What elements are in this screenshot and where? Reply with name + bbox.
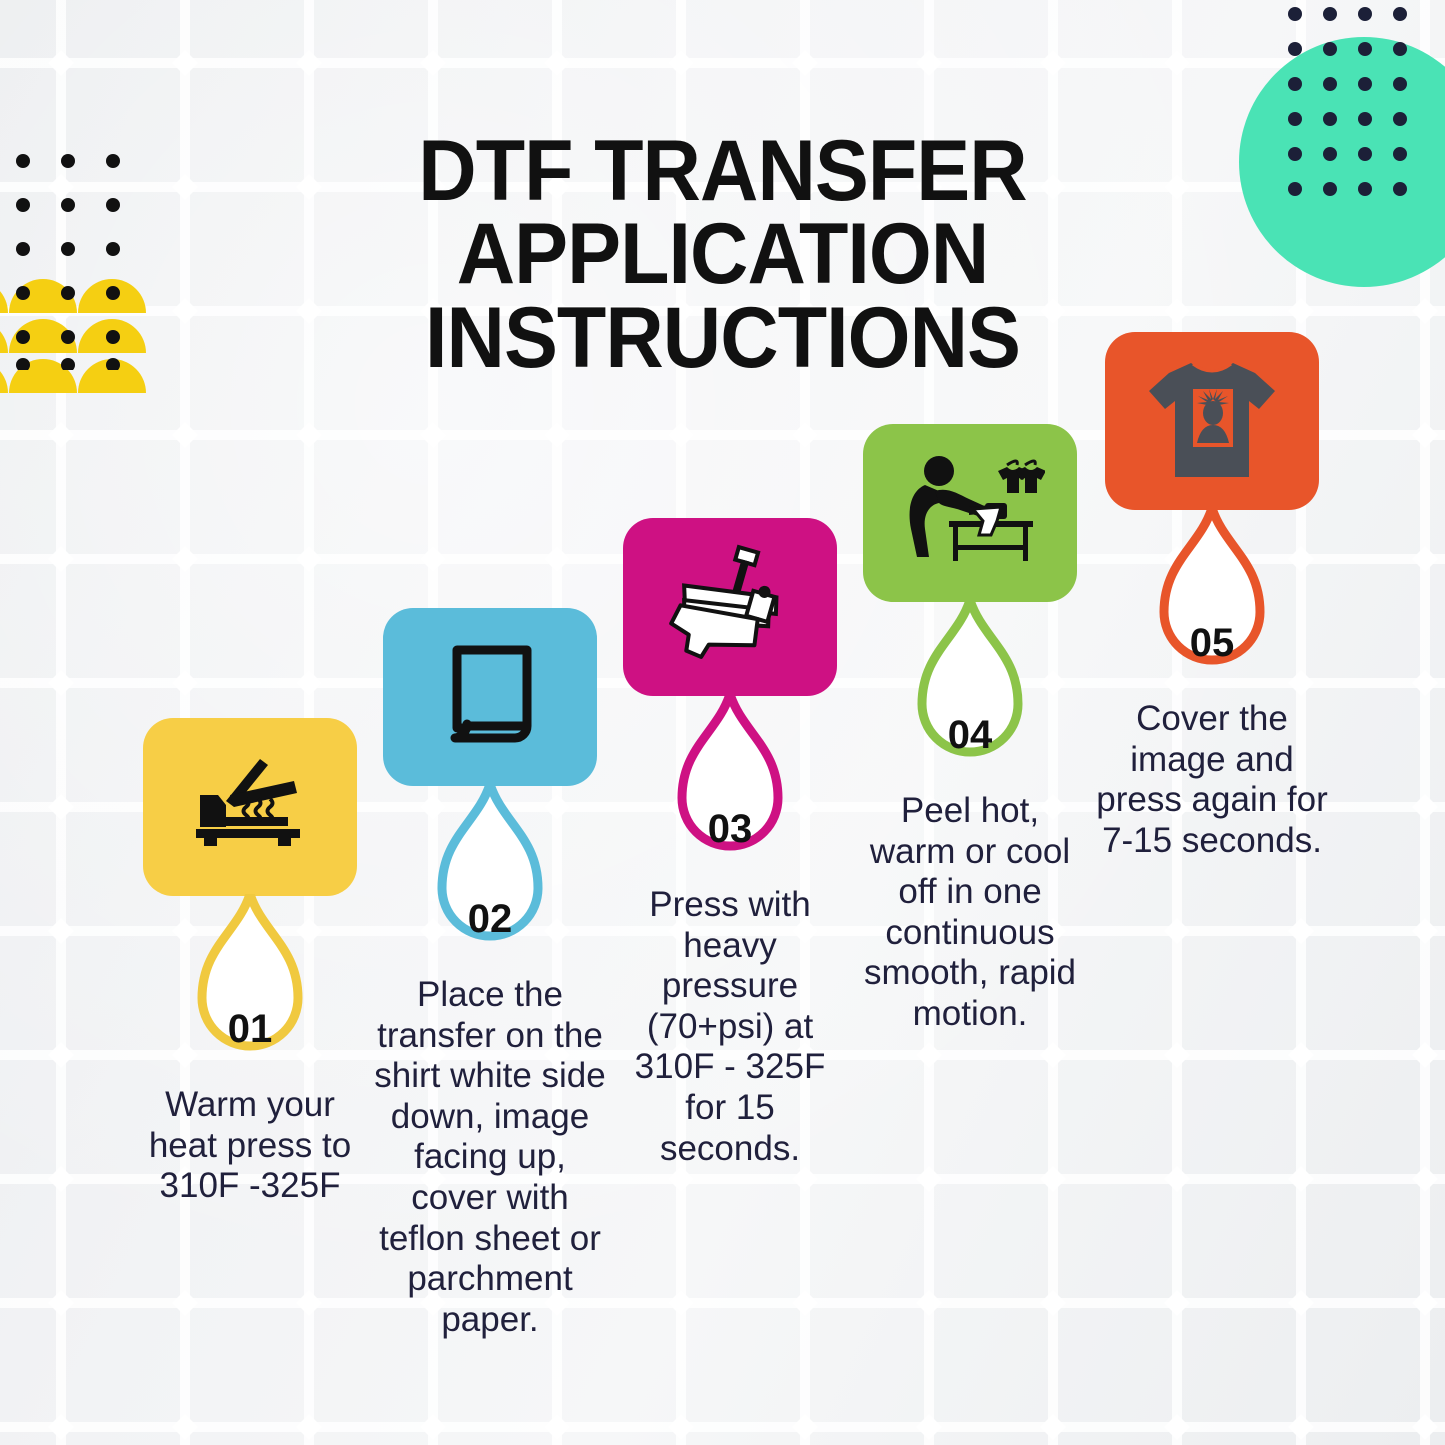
step-item-05[interactable]: 05 Cover the image and press again for 7… [1090,332,1334,861]
step-card-03[interactable] [623,518,837,696]
step-card-04[interactable] [863,424,1077,602]
infographic-poster: DTF TRANSFER APPLICATION INSTRUCTIONS [0,0,1445,1445]
step-caption-03: Press with heavy pressure (70+psi) at 31… [614,885,846,1169]
step-badge-01: 01 [128,1007,372,1052]
step-caption-04: Peel hot, warm or cool off in one contin… [854,791,1086,1035]
title-line-1: DTF TRANSFER APPLICATION [418,123,1026,302]
step-badge-03: 03 [608,807,852,852]
step-connector-01: 01 [128,894,372,1079]
step-item-03[interactable]: 03 Press with heavy pressure (70+psi) at… [608,518,852,1169]
step-connector-04: 04 [848,600,1092,785]
heat-press-open-icon [190,755,310,859]
step-card-01[interactable] [143,718,357,896]
step-card-05[interactable] [1105,332,1319,510]
transfer-sheet-icon [435,642,545,752]
step-item-01[interactable]: 01 Warm your heat press to 310F -325F [128,718,372,1207]
step-connector-03: 03 [608,694,852,879]
step-item-02[interactable]: 02 Place the transfer on the shirt white… [368,608,612,1340]
step-caption-01: Warm your heat press to 310F -325F [130,1085,370,1207]
step-connector-02: 02 [368,784,612,969]
step-badge-05: 05 [1090,621,1334,666]
step-connector-05: 05 [1090,508,1334,693]
step-badge-02: 02 [368,897,612,942]
step-item-04[interactable]: 04 Peel hot, warm or cool off in one con… [848,424,1092,1035]
heat-press-machine-icon [664,541,796,673]
step-card-02[interactable] [383,608,597,786]
printed-tshirt-icon [1143,357,1281,485]
step-caption-02: Place the transfer on the shirt white si… [370,975,610,1340]
step-badge-04: 04 [848,713,1092,758]
peel-transfer-person-icon [895,449,1045,577]
step-caption-05: Cover the image and press again for 7-15… [1096,699,1328,861]
